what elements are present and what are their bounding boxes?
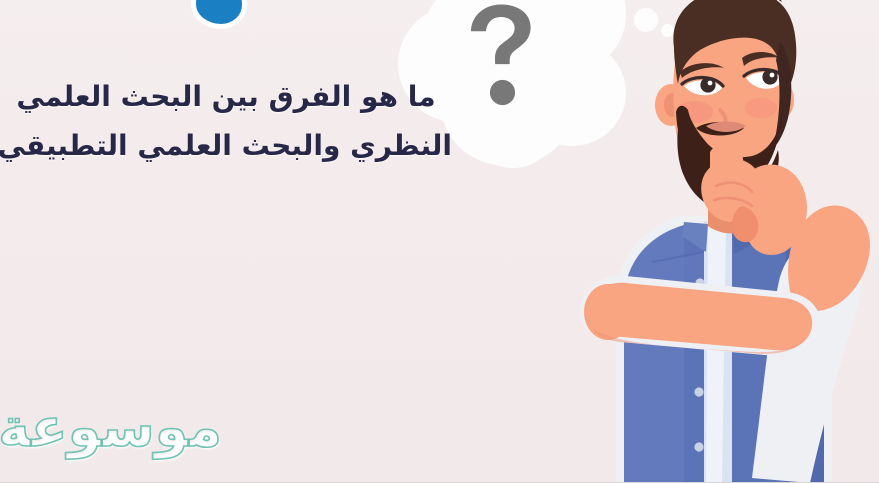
thinking-man-illustration xyxy=(556,0,879,483)
headline-line-2: النظري والبحث العلمي التطبيقي xyxy=(0,121,452,170)
site-logo[interactable]: موسوعة xyxy=(8,393,222,465)
question-mark-icon xyxy=(466,2,536,106)
headline-line-1: ما هو الفرق بين البحث العلمي xyxy=(0,72,452,121)
page-title: ما هو الفرق بين البحث العلمي النظري والب… xyxy=(0,72,452,170)
site-logo-text: موسوعة xyxy=(8,393,222,463)
blue-blob-icon xyxy=(196,0,242,24)
article-banner: ما هو الفرق بين البحث العلمي النظري والب… xyxy=(0,0,879,483)
